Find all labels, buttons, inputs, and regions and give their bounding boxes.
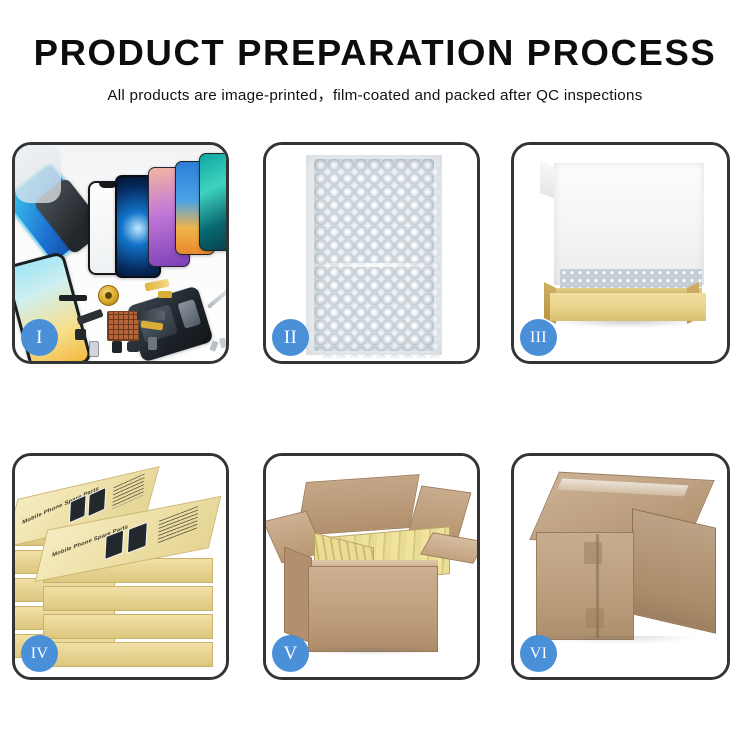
small-chip-b bbox=[112, 341, 122, 353]
panel-step-6: VI bbox=[511, 453, 730, 680]
carton-flap-back bbox=[296, 474, 419, 536]
small-chip-d bbox=[148, 337, 157, 350]
flex-cable-e bbox=[76, 309, 103, 325]
step-badge-4: IV bbox=[21, 635, 58, 672]
panel-step-5: V bbox=[263, 453, 480, 680]
sealed-carton-shadow bbox=[538, 636, 698, 644]
copper-coil-part bbox=[98, 285, 119, 306]
step-badge-5: V bbox=[272, 635, 309, 672]
hand-blur bbox=[15, 145, 61, 203]
phone-teal-wave bbox=[199, 153, 226, 251]
small-chip-a bbox=[75, 329, 86, 340]
bubble-wrap-bubbles bbox=[314, 159, 434, 351]
screw-b bbox=[219, 337, 226, 348]
chip-grid-part bbox=[107, 311, 139, 341]
box-print-screen-b-front bbox=[127, 522, 148, 554]
stack-box-fr-3 bbox=[43, 586, 213, 611]
flex-cable-b bbox=[158, 291, 172, 298]
sealed-carton-patch-bottom bbox=[586, 608, 604, 628]
step-badge-6: VI bbox=[520, 635, 557, 672]
panel-grid: I II II bbox=[0, 0, 750, 750]
box-front-yellow bbox=[550, 293, 706, 321]
carton-shadow bbox=[296, 648, 446, 656]
screw-a bbox=[209, 340, 218, 352]
box-print-specs-back bbox=[112, 473, 144, 509]
carton-body-front bbox=[308, 566, 438, 652]
sealed-carton-patch-top bbox=[584, 542, 602, 564]
step-badge-2: II bbox=[272, 319, 309, 356]
sim-tray-part bbox=[89, 341, 99, 357]
sealed-carton-right-face bbox=[632, 508, 716, 633]
box-shadow bbox=[552, 321, 704, 328]
step-badge-1: I bbox=[21, 319, 58, 356]
step-badge-3: III bbox=[520, 319, 557, 356]
panel-step-2: II bbox=[263, 142, 480, 364]
stack-box-fr-5 bbox=[43, 642, 213, 667]
tweezer-tool bbox=[207, 289, 226, 309]
flex-cable-a bbox=[144, 279, 169, 292]
panel-step-1: I bbox=[12, 142, 229, 364]
speaker-strip-part bbox=[59, 295, 87, 301]
panel-step-3: III bbox=[511, 142, 730, 364]
panel-step-4: Mobile Phone Spare Parts Mobile Phone Sp… bbox=[12, 453, 229, 680]
flex-cable-c bbox=[137, 311, 165, 320]
bubble-wrap-seam bbox=[314, 263, 434, 267]
small-chip-c bbox=[127, 341, 140, 352]
box-print-specs-front bbox=[158, 506, 198, 545]
box-lid-white bbox=[554, 163, 704, 285]
stack-box-fr-4 bbox=[43, 614, 213, 639]
